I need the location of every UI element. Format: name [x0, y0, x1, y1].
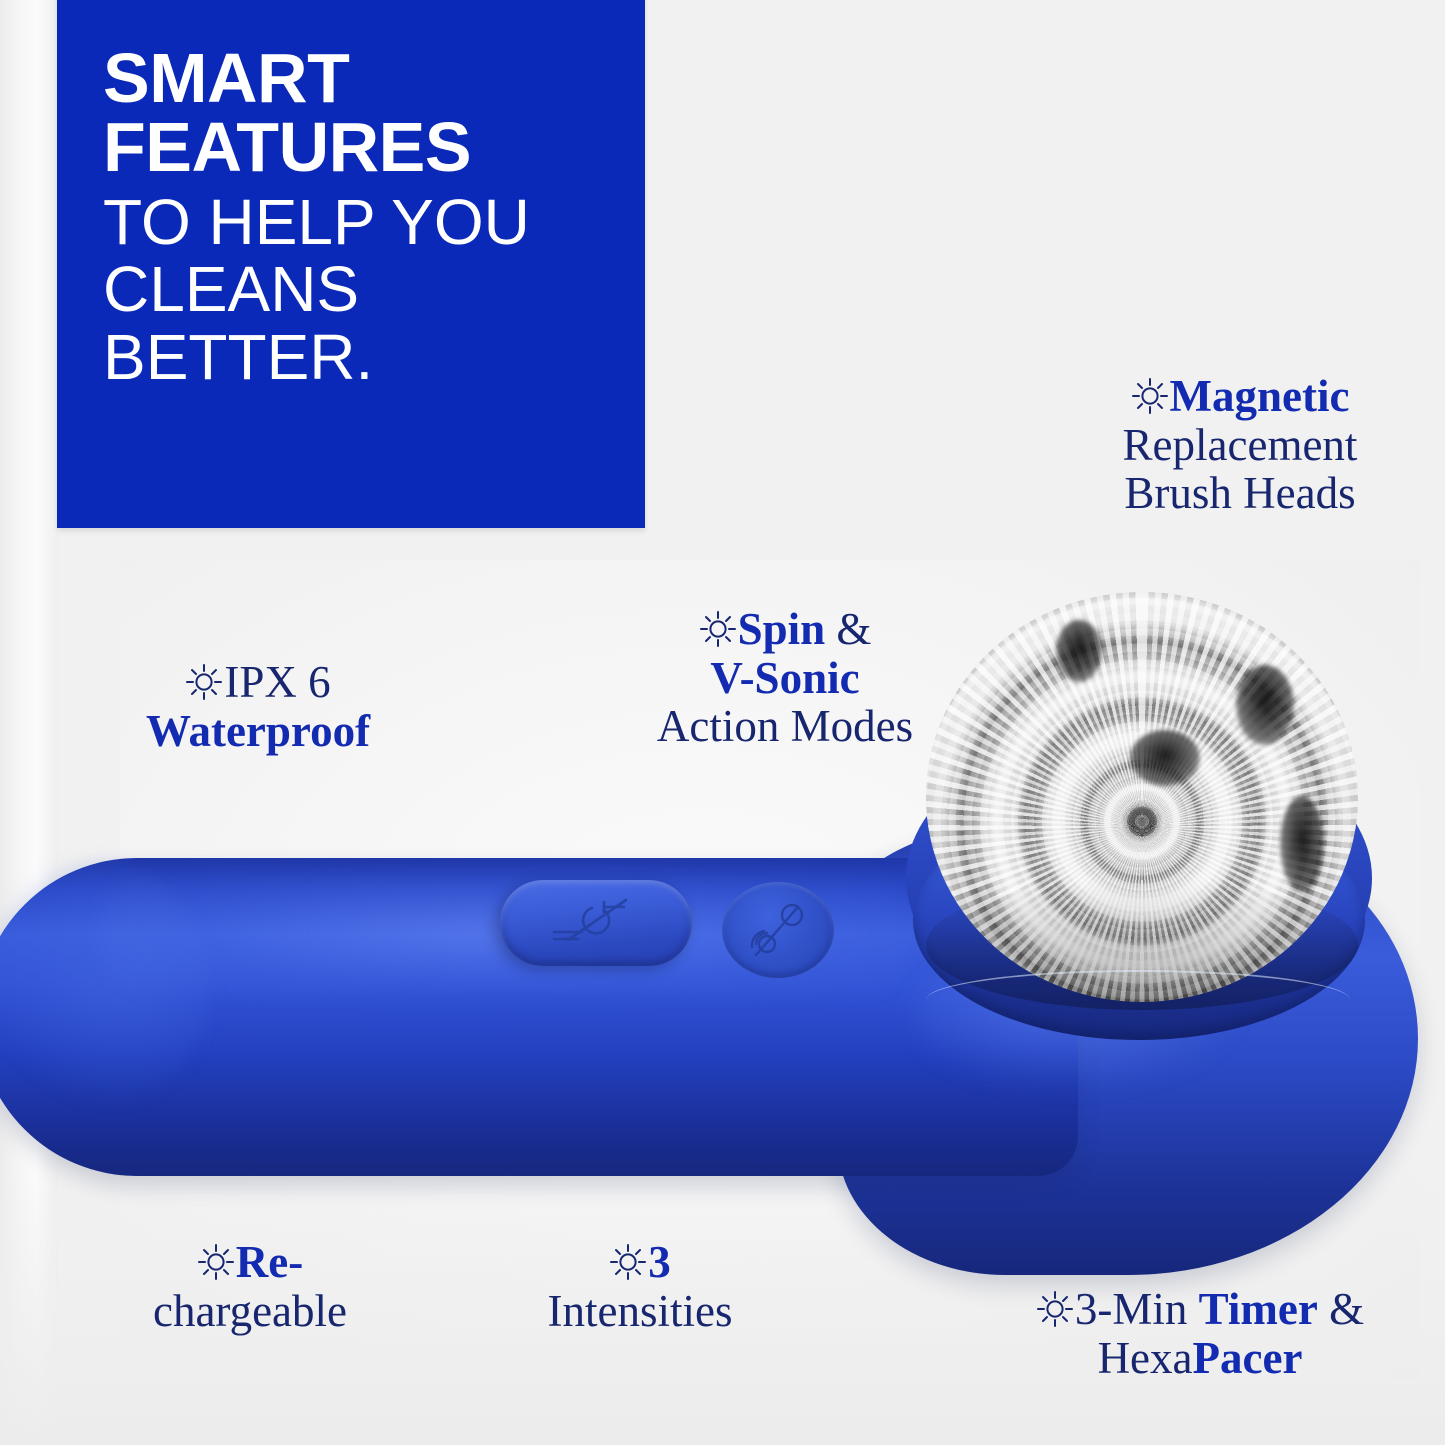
feature-waterproof-label: Waterproof — [146, 706, 370, 756]
feature-intensities-count: 3 — [648, 1237, 671, 1287]
feature-rechargeable: Re- chargeable — [70, 1238, 430, 1335]
feature-action-modes-line-1: Spin & — [585, 605, 985, 654]
sun-icon — [197, 1243, 235, 1281]
feature-magnetic-heads: Magnetic Replacement Brush Heads — [1040, 372, 1440, 518]
headline-light-line-3: BETTER. — [103, 324, 627, 392]
product-image — [0, 820, 1398, 1290]
mode-icon — [746, 900, 812, 962]
headline-banner-inner: SMART FEATURES TO HELP YOU CLEANS BETTER… — [103, 44, 627, 392]
headline-bold-line-2: FEATURES — [103, 113, 627, 182]
feature-action-modes-line-3: Action Modes — [585, 702, 985, 751]
sun-icon — [699, 610, 737, 648]
mode-button[interactable] — [722, 882, 834, 978]
sun-icon — [185, 663, 223, 701]
bristle-dark-tuft — [1280, 796, 1324, 892]
bristle-dark-tuft — [1056, 620, 1102, 682]
feature-action-modes-line-2: V-Sonic — [585, 654, 985, 703]
infographic-canvas: SMART FEATURES TO HELP YOU CLEANS BETTER… — [0, 0, 1445, 1445]
sun-icon — [1036, 1290, 1074, 1328]
feature-rechargeable-prefix: Re- — [236, 1237, 303, 1287]
power-button[interactable] — [500, 880, 692, 966]
feature-rechargeable-line-1: Re- — [70, 1238, 430, 1287]
feature-intensities: 3 Intensities — [480, 1238, 800, 1335]
headline-bold-line-1: SMART — [103, 44, 627, 113]
power-icon — [548, 896, 648, 952]
sun-icon — [1131, 377, 1169, 415]
brush-head-bristles — [926, 592, 1358, 1002]
feature-action-modes: Spin & V-Sonic Action Modes — [585, 605, 985, 751]
headline-light-lines: TO HELP YOU CLEANS BETTER. — [103, 189, 627, 392]
feature-action-modes-amp: & — [825, 604, 871, 654]
feature-intensities-line-2: Intensities — [480, 1287, 800, 1336]
feature-waterproof-line-1: IPX 6 — [78, 658, 438, 707]
feature-action-modes-spin: Spin — [738, 604, 826, 654]
headline-light-line-2: CLEANS — [103, 256, 627, 324]
brush-head-seam — [926, 970, 1350, 1030]
feature-waterproof-line-2: Waterproof — [78, 707, 438, 756]
feature-pacer-label: Pacer — [1193, 1333, 1303, 1383]
feature-magnetic-heads-line-1: Magnetic — [1040, 372, 1440, 421]
sun-icon — [609, 1243, 647, 1281]
feature-magnetic-line-2: Replacement — [1040, 421, 1440, 470]
feature-timer-pacer-line-2: HexaPacer — [985, 1334, 1415, 1383]
feature-timer-duration: 3-Min — [1075, 1284, 1199, 1334]
feature-pacer-prefix: Hexa — [1098, 1333, 1193, 1383]
feature-timer-pacer-line-1: 3-Min Timer & — [985, 1285, 1415, 1334]
feature-rechargeable-line-2: chargeable — [70, 1287, 430, 1336]
headline-banner: SMART FEATURES TO HELP YOU CLEANS BETTER… — [57, 0, 645, 528]
feature-magnetic-label: Magnetic — [1170, 371, 1350, 421]
headline-light-line-1: TO HELP YOU — [103, 189, 627, 257]
feature-intensities-line-1: 3 — [480, 1238, 800, 1287]
bristle-dark-tuft — [1236, 665, 1294, 745]
feature-waterproof-ipx: IPX 6 — [224, 657, 330, 707]
feature-action-modes-vsonic: V-Sonic — [710, 653, 859, 703]
bristle-dark-tuft — [1130, 730, 1200, 786]
feature-waterproof: IPX 6 Waterproof — [78, 658, 438, 755]
feature-timer-pacer: 3-Min Timer & HexaPacer — [985, 1285, 1415, 1382]
feature-timer-label: Timer — [1199, 1284, 1318, 1334]
feature-magnetic-line-3: Brush Heads — [1040, 469, 1440, 518]
feature-timer-amp: & — [1318, 1284, 1364, 1334]
